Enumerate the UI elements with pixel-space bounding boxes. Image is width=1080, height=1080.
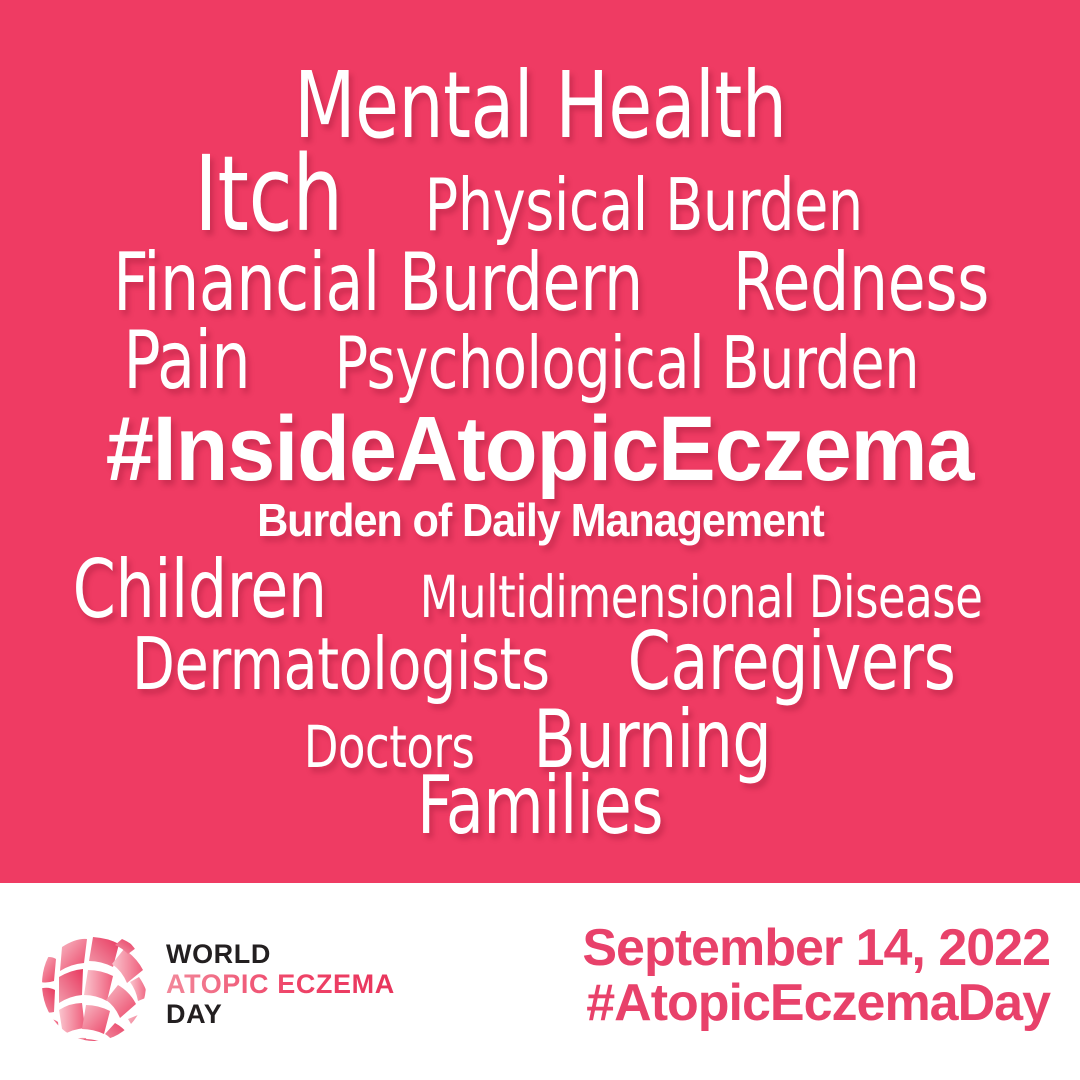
world-atopic-eczema-day-logo: WORLD ATOPIC ECZEMA DAY [38, 925, 395, 1043]
word-cloud-row: Pain Psychological Burden [0, 321, 1080, 401]
logo-line-world: WORLD [166, 939, 395, 969]
logo-line-day: DAY [166, 999, 395, 1029]
word-caregivers: Caregivers [628, 622, 956, 702]
word-families: Families [417, 766, 663, 846]
word-cloud-panel: Mental Health Itch Physical Burden Finan… [0, 0, 1080, 883]
poster-canvas: Mental Health Itch Physical Burden Finan… [0, 0, 1080, 1080]
word-itch: Itch [194, 142, 343, 246]
word-cloud-row: Families [0, 766, 1080, 846]
word-cloud-row: Burden of Daily Management [0, 497, 1080, 543]
event-date: September 14, 2022 [582, 921, 1050, 976]
word-pain: Pain [124, 321, 251, 401]
logo-line-atopic-eczema: ATOPIC ECZEMA [166, 969, 395, 999]
word-redness: Redness [733, 243, 989, 323]
word-cloud-row: Financial Burdern Redness [0, 243, 1080, 323]
word-cloud-row: Itch Physical Burden [0, 142, 1080, 246]
word-dermatologists: Dermatologists [132, 628, 550, 700]
word-hashtag-inside-atopic-eczema: #InsideAtopicEczema [106, 403, 974, 495]
word-children: Children [73, 550, 327, 630]
word-financial-burdern: Financial Burdern [113, 243, 643, 323]
word-burden-of-daily-management: Burden of Daily Management [257, 497, 824, 543]
word-mental-health: Mental Health [294, 60, 786, 152]
logo-wordmark: WORLD ATOPIC ECZEMA DAY [166, 939, 395, 1030]
event-hashtag: #AtopicEczemaDay [582, 976, 1050, 1031]
word-cloud-row: #InsideAtopicEczema [0, 403, 1080, 495]
word-physical-burden: Physical Burden [424, 169, 862, 241]
word-cloud-row: Mental Health [0, 60, 1080, 152]
footer-band: WORLD ATOPIC ECZEMA DAY September 14, 20… [0, 883, 1080, 1080]
globe-tiles-icon [38, 925, 150, 1043]
word-cloud-row: Dermatologists Caregivers [0, 622, 1080, 702]
word-psychological-burden: Psychological Burden [334, 327, 919, 399]
event-date-block: September 14, 2022 #AtopicEczemaDay [582, 921, 1050, 1030]
